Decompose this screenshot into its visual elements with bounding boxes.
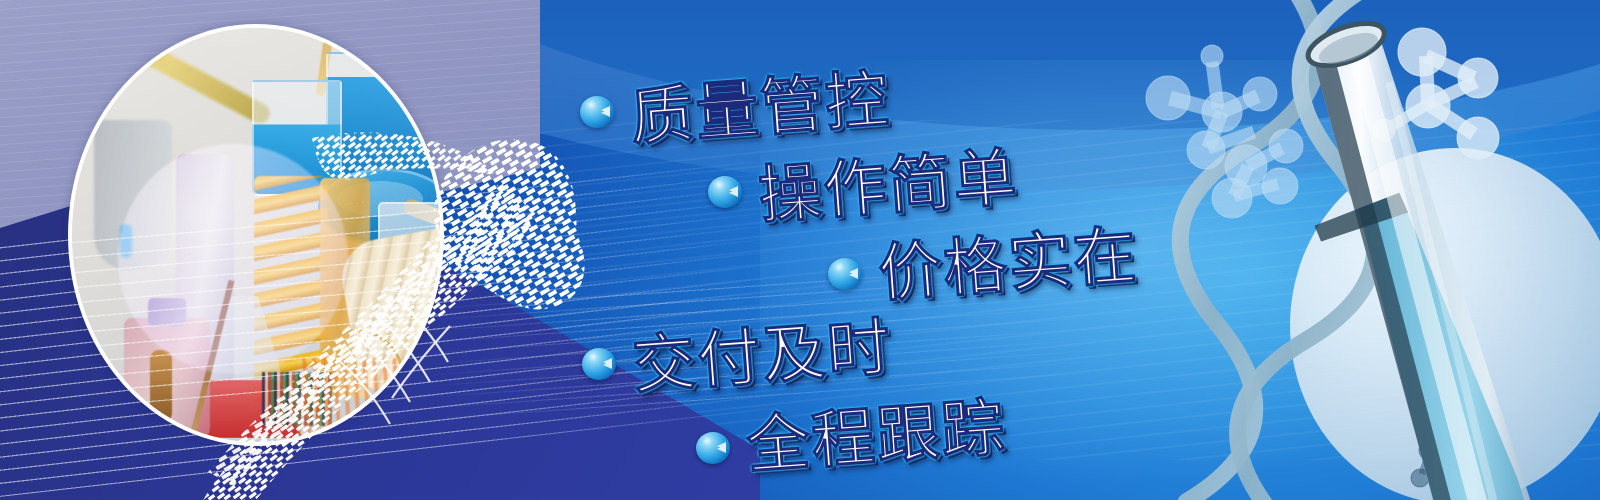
sphere-bullet-icon [708,176,742,208]
dna-gel-band-ribbon [200,120,620,500]
slogan-row: 操作简单 [560,136,1138,214]
test-tube-icon [1130,0,1600,500]
slogan-row: 全程跟踪 [560,386,1006,466]
science-art-panel [1130,0,1600,500]
slogan-row: 交付及时 [560,306,1006,386]
sphere-bullet-icon [696,432,730,464]
sphere-bullet-icon [582,348,616,380]
sphere-bullet-icon [580,96,614,128]
slogan-row: 质量管控 [560,58,1138,136]
slogan-fair-price: 价格实在 [875,205,1141,315]
slogan-full-tracking: 全程跟踪 [743,377,1009,487]
slogan-row: 价格实在 [560,214,1138,292]
sphere-bullet-icon [828,258,862,290]
lab-services-banner: 质量管控 操作简单 价格实在 交付及时 全程跟踪 [0,0,1600,500]
slogan-group-bottom: 交付及时 全程跟踪 [560,306,1006,466]
slogan-group-top: 质量管控 操作简单 价格实在 [560,58,1138,292]
